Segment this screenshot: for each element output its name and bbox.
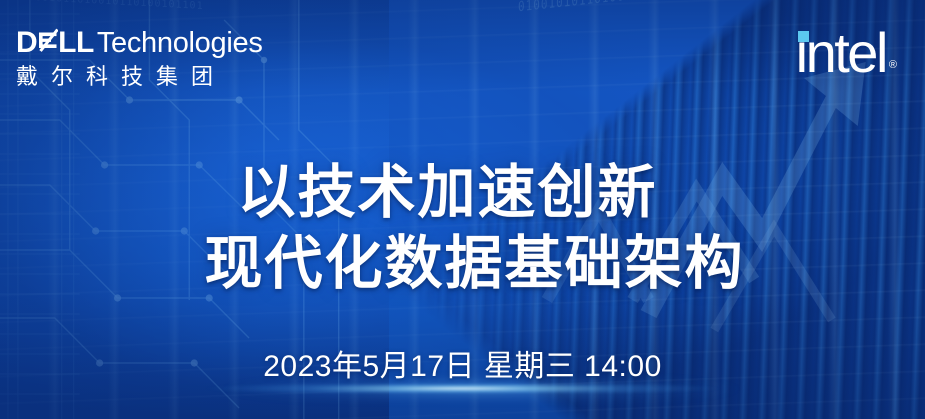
event-datetime: 2023年5月17日 星期三 14:00 — [0, 341, 925, 385]
dell-wordmark: D — [16, 25, 94, 61]
event-banner: 0110100101101001011010010110100101101001… — [0, 0, 925, 419]
dell-letter-l1: L — [58, 28, 76, 58]
intel-i-dot-icon — [798, 31, 809, 42]
dell-technologies-word: Technologies — [97, 29, 263, 58]
intel-wordmark-text: intel — [796, 21, 886, 84]
dell-letter-l2: L — [76, 28, 94, 58]
dell-chinese-name: 戴尔科技集团 — [16, 64, 263, 89]
headline-line-2: 现代化数据基础架构 — [24, 229, 925, 300]
intel-wordmark: intel — [796, 26, 886, 79]
page-title: 以技术加速创新 现代化数据基础架构 — [0, 158, 925, 300]
headline-line-1: 以技术加速创新 — [0, 158, 925, 229]
dell-technologies-logo: D — [16, 25, 263, 89]
dell-wordmark-row: D — [16, 25, 263, 57]
dell-slashed-e-icon — [38, 25, 58, 61]
intel-registered-mark: ® — [889, 60, 897, 71]
intel-logo: intel ® — [796, 26, 897, 79]
dell-letter-d: D — [16, 28, 37, 58]
